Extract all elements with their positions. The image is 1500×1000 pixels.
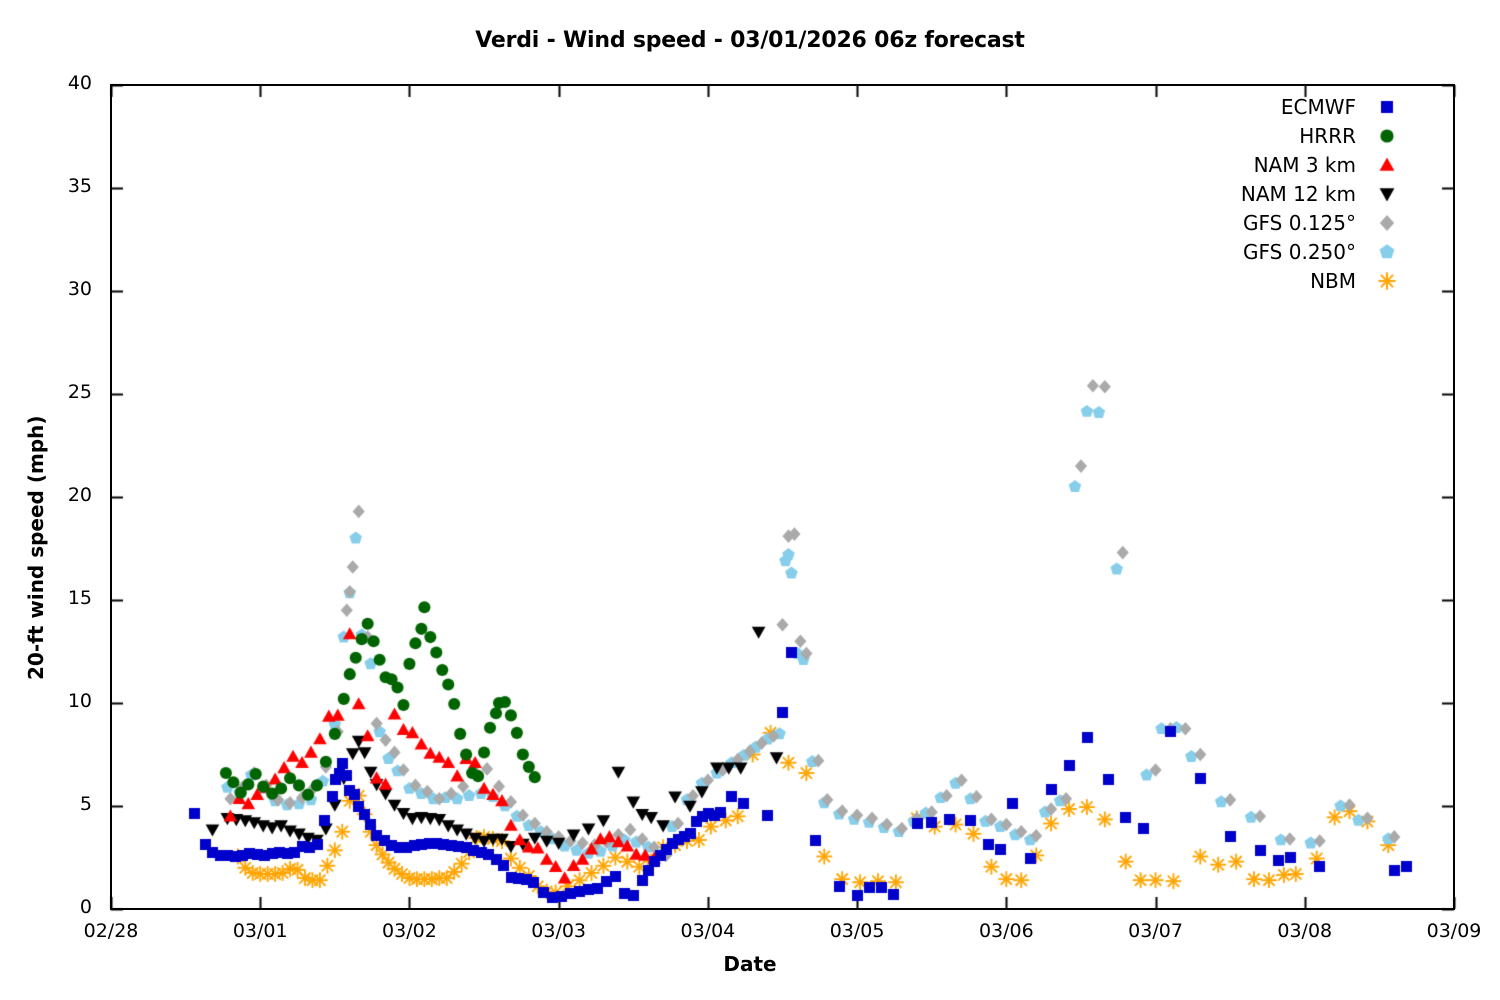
y-tick-30: 30 (20, 278, 92, 300)
x-tick-03-07: 03/07 (1096, 920, 1216, 942)
legend-item-nbm[interactable]: NBM (1150, 266, 1400, 295)
legend-marker-triangle-up-icon (1374, 152, 1400, 178)
y-tick-5: 5 (20, 793, 92, 815)
legend-item-nam-3-km[interactable]: NAM 3 km (1150, 150, 1400, 179)
legend-label: HRRR (1299, 124, 1374, 148)
legend-item-nam-12-km[interactable]: NAM 12 km (1150, 179, 1400, 208)
chart-page: Verdi - Wind speed - 03/01/2026 06z fore… (0, 0, 1500, 1000)
legend-item-hrrr[interactable]: HRRR (1150, 121, 1400, 150)
legend-label: NAM 12 km (1241, 182, 1374, 206)
legend-marker-pentagon-icon (1374, 239, 1400, 265)
legend-item-gfs-0-250[interactable]: GFS 0.250° (1150, 237, 1400, 266)
legend-marker-circle-icon (1374, 123, 1400, 149)
x-tick-03-01: 03/01 (200, 920, 320, 942)
legend-label: NBM (1310, 269, 1374, 293)
legend-label: NAM 3 km (1254, 153, 1374, 177)
x-tick-03-02: 03/02 (349, 920, 469, 942)
x-tick-03-05: 03/05 (797, 920, 917, 942)
x-tick-03-04: 03/04 (648, 920, 768, 942)
y-tick-0: 0 (20, 896, 92, 918)
x-tick-03-03: 03/03 (499, 920, 619, 942)
y-axis-label: 20-ft wind speed (mph) (24, 415, 48, 680)
x-tick-02-28: 02/28 (51, 920, 171, 942)
legend-label: ECMWF (1281, 95, 1374, 119)
x-tick-03-09: 03/09 (1394, 920, 1500, 942)
y-tick-10: 10 (20, 690, 92, 712)
x-tick-03-08: 03/08 (1245, 920, 1365, 942)
legend-label: GFS 0.125° (1243, 211, 1374, 235)
y-tick-35: 35 (20, 175, 92, 197)
x-axis-label: Date (0, 952, 1500, 976)
legend-item-ecmwf[interactable]: ECMWF (1150, 92, 1400, 121)
legend-marker-asterisk-icon (1374, 268, 1400, 294)
chart-legend: ECMWFHRRRNAM 3 kmNAM 12 kmGFS 0.125°GFS … (1150, 92, 1400, 295)
legend-marker-diamond-icon (1374, 210, 1400, 236)
legend-marker-square-icon (1374, 94, 1400, 120)
legend-item-gfs-0-125[interactable]: GFS 0.125° (1150, 208, 1400, 237)
x-tick-03-06: 03/06 (946, 920, 1066, 942)
y-tick-25: 25 (20, 381, 92, 403)
y-tick-40: 40 (20, 72, 92, 94)
legend-label: GFS 0.250° (1243, 240, 1374, 264)
legend-marker-triangle-down-icon (1374, 181, 1400, 207)
